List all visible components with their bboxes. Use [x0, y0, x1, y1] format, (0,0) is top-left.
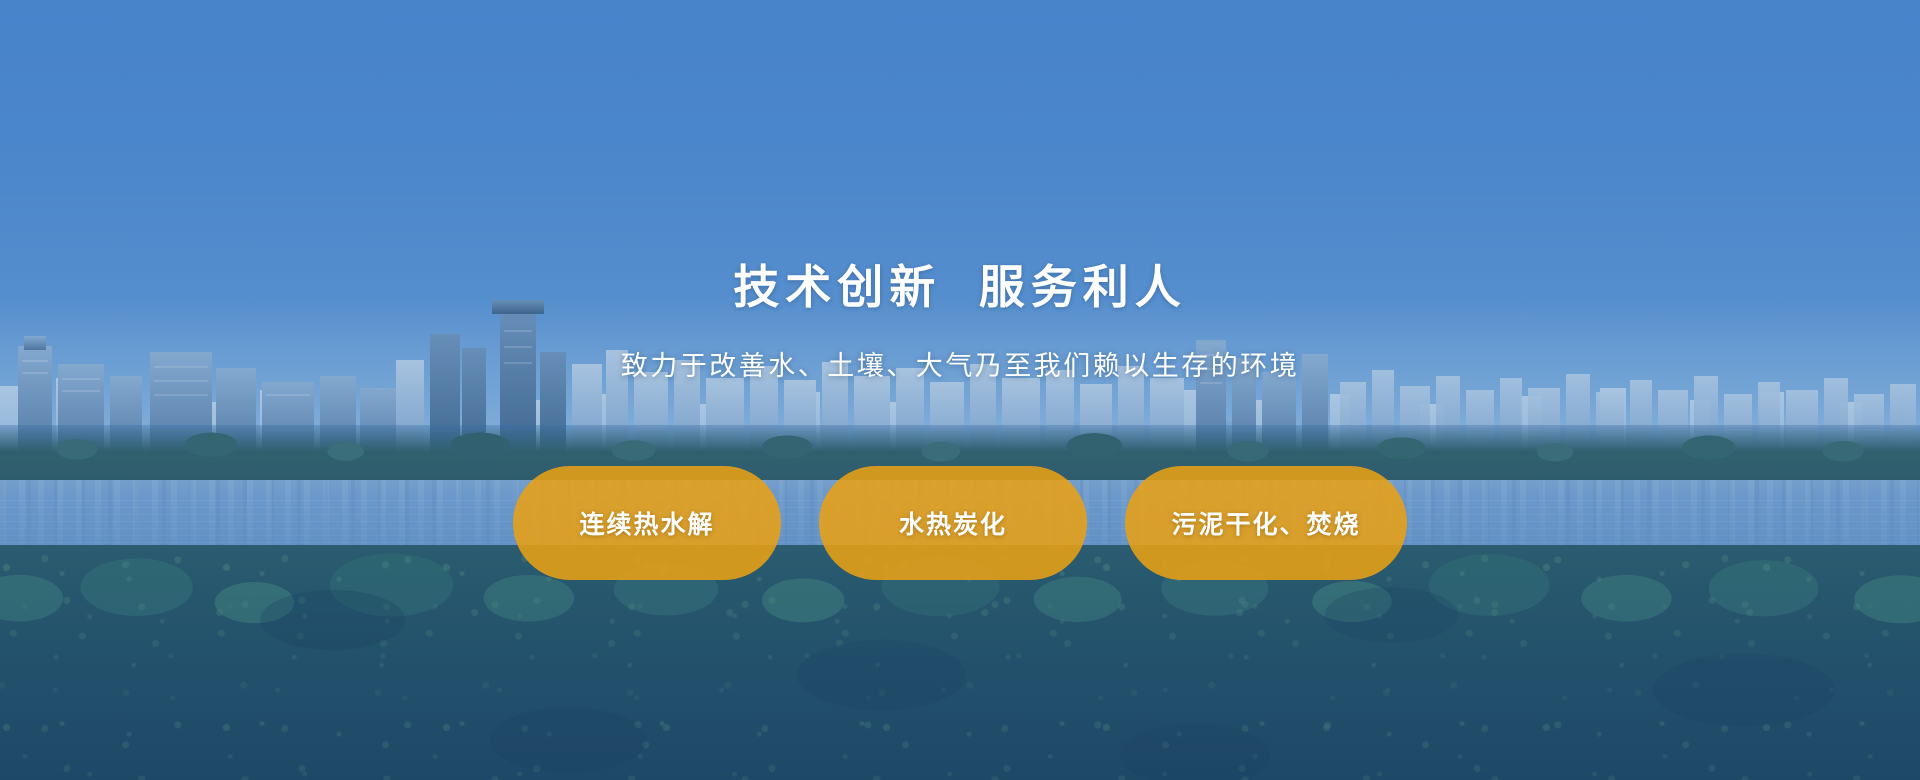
- category-button-label: 污泥干化、焚烧: [1171, 505, 1360, 541]
- banner-content: 技术创新 服务利人 致力于改善水、土壤、大气乃至我们赖以生存的环境 连续热水解 …: [0, 0, 1920, 780]
- category-button-continuous-hydrolysis[interactable]: 连续热水解: [513, 466, 781, 580]
- hero-banner: 技术创新 服务利人 致力于改善水、土壤、大气乃至我们赖以生存的环境 连续热水解 …: [0, 0, 1920, 780]
- category-button-sludge-drying-incineration[interactable]: 污泥干化、焚烧: [1125, 466, 1407, 580]
- page-title: 技术创新 服务利人: [0, 262, 1920, 313]
- category-button-label: 连续热水解: [579, 505, 714, 541]
- page-subtitle: 致力于改善水、土壤、大气乃至我们赖以生存的环境: [0, 344, 1920, 383]
- category-button-group: 连续热水解 水热炭化 污泥干化、焚烧: [0, 466, 1920, 580]
- category-button-hydrothermal-carbonization[interactable]: 水热炭化: [819, 466, 1087, 580]
- category-button-label: 水热炭化: [899, 505, 1007, 541]
